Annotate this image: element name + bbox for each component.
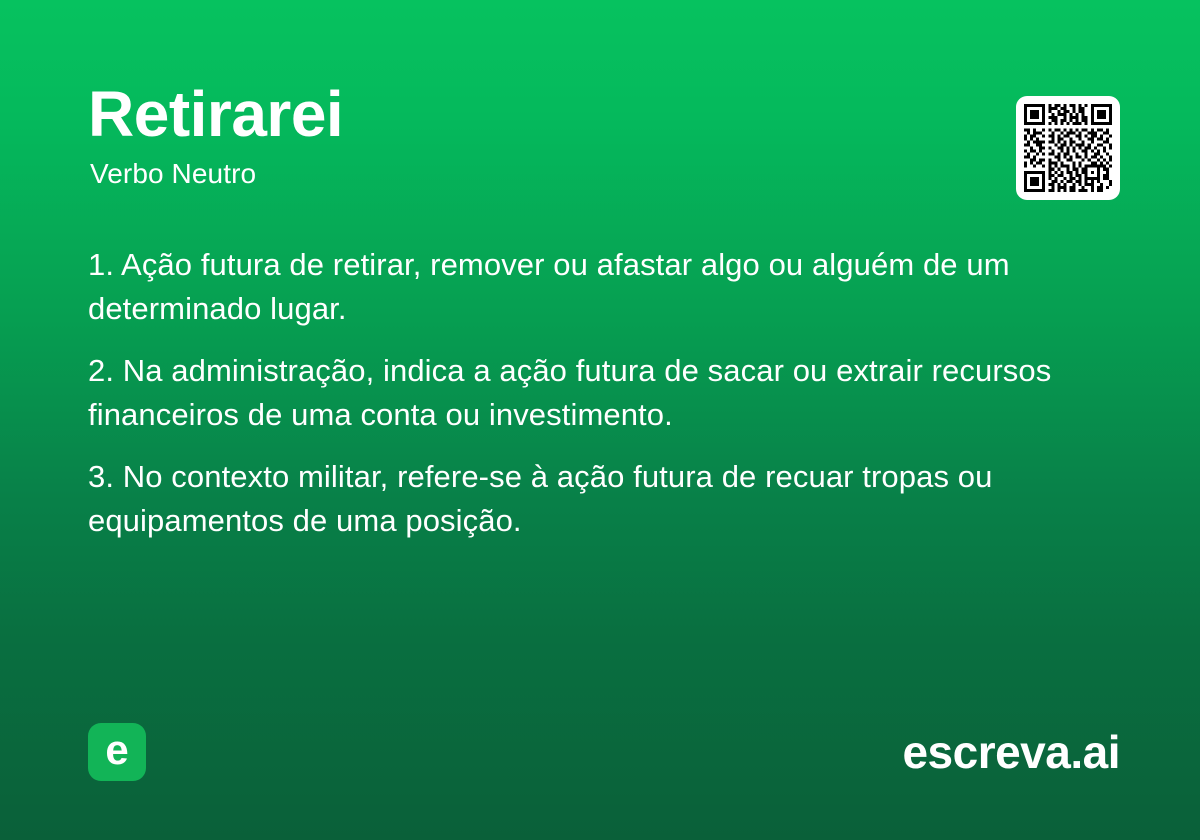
card-header: Retirarei Verbo Neutro	[88, 80, 1112, 220]
definition-item: 3. No contexto militar, refere-se à ação…	[88, 455, 1088, 543]
word-class-label: Verbo Neutro	[90, 158, 1112, 190]
brand-wordmark: escreva.ai	[902, 727, 1120, 777]
escreva-logo-icon: e	[88, 723, 146, 781]
qr-code-panel[interactable]	[1016, 96, 1120, 200]
card-footer: e escreva.ai	[88, 722, 1120, 782]
definition-item: 2. Na administração, indica a ação futur…	[88, 349, 1088, 437]
page-title: Retirarei	[88, 80, 1112, 148]
qr-code-icon	[1024, 104, 1112, 192]
logo-letter: e	[105, 729, 128, 771]
definitions-list: 1. Ação futura de retirar, remover ou af…	[88, 243, 1088, 543]
definition-item: 1. Ação futura de retirar, remover ou af…	[88, 243, 1088, 331]
dictionary-card: Retirarei Verbo Neutro	[0, 0, 1200, 840]
